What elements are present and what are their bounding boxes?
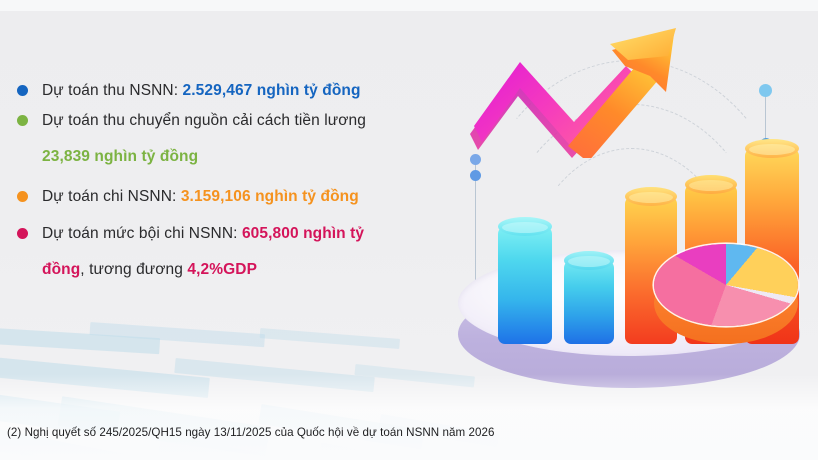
bullet-dot-green — [17, 115, 28, 126]
bullet-text-4: Dự toán mức bội chi NSNN: 605,800 nghìn … — [42, 221, 442, 247]
bullet-value-4: 605,800 nghìn tỷ — [242, 225, 364, 242]
bullet-label-4b: , tương đương — [80, 261, 187, 278]
list-item: Dự toán thu NSNN: 2.529,467 nghìn tỷ đồn… — [12, 78, 442, 104]
bullet-value-4c: 4,2%GDP — [187, 261, 257, 278]
bullet-label-1: Dự toán thu NSNN: — [42, 82, 183, 99]
bullet-value-3: 3.159,106 nghìn tỷ đồng — [181, 188, 359, 205]
bullet-label-2: Dự toán thu chuyển nguồn cải cách tiền l… — [42, 112, 366, 129]
bullet-value-4b: đồng — [42, 261, 80, 278]
bullet-list: Dự toán thu NSNN: 2.529,467 nghìn tỷ đồn… — [12, 78, 442, 287]
bullet-value-1: 2.529,467 nghìn tỷ đồng — [183, 82, 361, 99]
bullet-dot-blue — [17, 85, 28, 96]
bullet-dot-crimson — [17, 228, 28, 239]
bar-1-cyan — [498, 226, 552, 344]
bullet-label-3: Dự toán chi NSNN: — [42, 188, 181, 205]
bullet-text-2: Dự toán thu chuyển nguồn cải cách tiền l… — [42, 108, 442, 134]
list-item: Dự toán thu chuyển nguồn cải cách tiền l… — [12, 108, 442, 170]
bullet-text-3: Dự toán chi NSNN: 3.159,106 nghìn tỷ đồn… — [42, 184, 442, 210]
footnote: (2) Nghị quyết số 245/2025/QH15 ngày 13/… — [7, 426, 494, 439]
bullet-text-1: Dự toán thu NSNN: 2.529,467 nghìn tỷ đồn… — [42, 78, 442, 104]
trend-arrow-icon — [460, 26, 710, 156]
bullet-text-4b: đồng, tương đương 4,2%GDP — [42, 257, 442, 283]
list-item: Dự toán chi NSNN: 3.159,106 nghìn tỷ đồn… — [12, 184, 442, 210]
bullet-label-4: Dự toán mức bội chi NSNN: — [42, 225, 242, 242]
list-item: Dự toán mức bội chi NSNN: 605,800 nghìn … — [12, 221, 442, 283]
pie-slice-gap — [654, 244, 798, 326]
guide-dot-left-lower — [470, 170, 481, 181]
chart-illustration — [440, 8, 818, 408]
pie-chart — [652, 240, 800, 348]
infographic-slide: Dự toán thu NSNN: 2.529,467 nghìn tỷ đồn… — [0, 0, 818, 460]
bullet-value-2: 23,839 nghìn tỷ đồng — [42, 144, 442, 170]
bullet-dot-orange — [17, 191, 28, 202]
guide-dot-right-upper — [759, 84, 772, 97]
bottom-fade — [0, 374, 818, 460]
bar-2-cyan — [564, 260, 614, 344]
